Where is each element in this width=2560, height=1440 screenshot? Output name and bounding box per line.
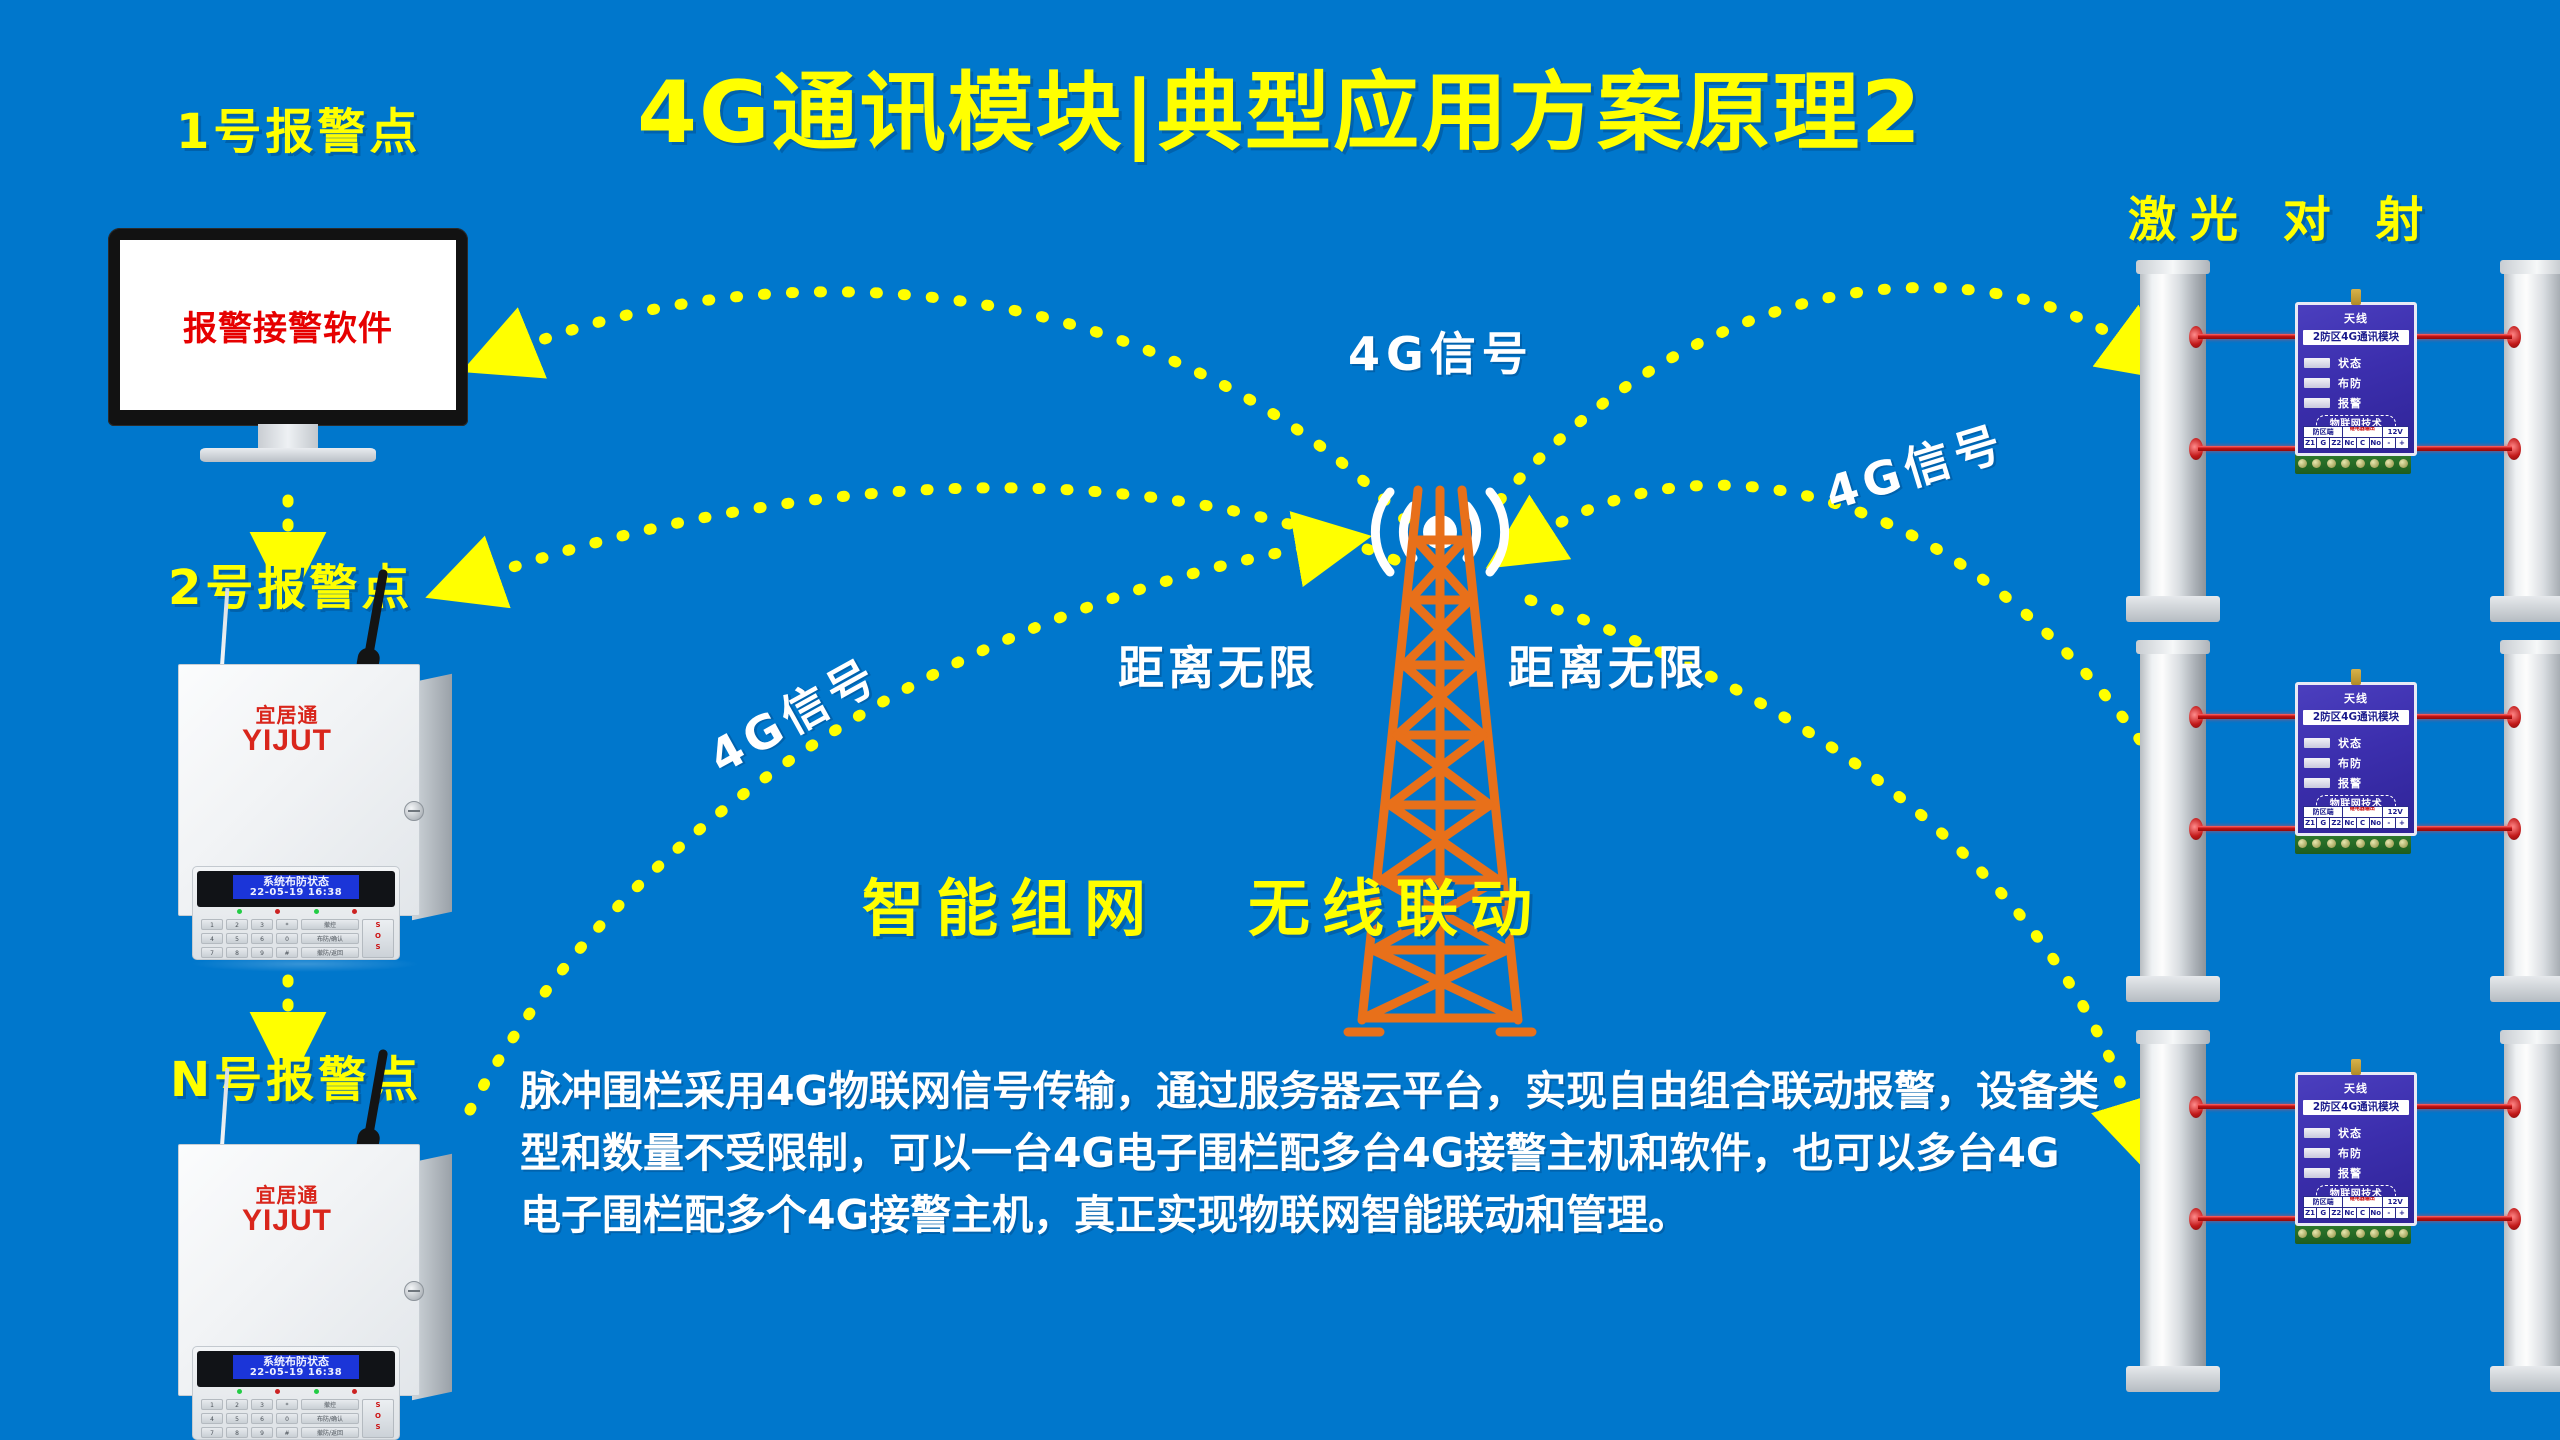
terminal-header-power: 12V (2383, 427, 2409, 437)
indicator-label: 报警 (2338, 1165, 2362, 1181)
key-2: 2 (226, 919, 248, 930)
pole-foot (2126, 1366, 2220, 1392)
terminal-pin: - (2383, 438, 2396, 448)
antenna-icon (2351, 1059, 2361, 1075)
laser-pole-left (2140, 650, 2206, 980)
module-indicator-status: 状态 (2304, 1123, 2414, 1143)
module-indicator-alarm: 报警 (2304, 773, 2414, 793)
arrow-tower-to-monitor (510, 292, 1405, 520)
module-title: 2防区4G通讯模块 (2303, 330, 2409, 345)
arrow-tower-to-host2 (475, 488, 1395, 580)
lcd-line-2: 22-05-19 16:38 (250, 1367, 342, 1378)
alarm-host-2: 宜居通 YIJUT 系统布防状态 22-05-19 16:38 123*撤控SO… (160, 660, 460, 960)
host-lcd: 系统布防状态 22-05-19 16:38 (233, 875, 359, 899)
module-title: 2防区4G通讯模块 (2303, 1100, 2409, 1115)
terminal-pin: G (2317, 438, 2330, 448)
led-strip (2304, 758, 2330, 768)
indicator-label: 状态 (2338, 355, 2362, 371)
led-power (237, 1389, 242, 1394)
label-distance-left: 距离无限 (1118, 632, 1318, 698)
module-antenna-label: 天线 (2298, 1080, 2414, 1096)
monitor-screen: 报警接警软件 (120, 240, 456, 410)
label-4g-signal-left: 4G信号 (696, 639, 890, 787)
terminal-pin: Nc (2343, 818, 2356, 828)
cell-tower-icon (1300, 480, 1580, 1040)
module-terminal-legend: 防区端 继电器输出 12V Z1 G Z2 Nc C No - + (2303, 806, 2409, 829)
pole-cap (2500, 640, 2560, 654)
module-indicator-status: 状态 (2304, 733, 2414, 753)
terminal-header-zone: 防区端 (2304, 1197, 2343, 1207)
label-wireless-linkage: 无线联动 (1248, 858, 1544, 948)
key-0: 0 (276, 933, 298, 944)
terminal-pin: C (2357, 1208, 2370, 1218)
indicator-label: 报警 (2338, 395, 2362, 411)
label-alarm-point-1: 1号报警点 (176, 92, 421, 162)
terminal-pin: Z1 (2304, 1208, 2317, 1218)
led-strip (2304, 1148, 2330, 1158)
key-4: 4 (201, 933, 223, 944)
host-lcd: 系统布防状态 22-05-19 16:38 (233, 1355, 359, 1379)
module-indicator-rows: 状态 布防 报警 (2304, 733, 2414, 793)
led-alarm (352, 909, 357, 914)
module-4g-communication: 天线 2防区4G通讯模块 状态 布防 报警 物联网技术 防区端 继电器输出 12… (2295, 1072, 2417, 1226)
module-indicator-alarm: 报警 (2304, 1163, 2414, 1183)
terminal-pin: + (2396, 818, 2408, 828)
terminal-pin: Z2 (2330, 818, 2343, 828)
pole-cap (2136, 640, 2210, 654)
module-4g-communication: 天线 2防区4G通讯模块 状态 布防 报警 物联网技术 防区端 继电器输出 12… (2295, 682, 2417, 836)
indicator-label: 状态 (2338, 735, 2362, 751)
terminal-pin: + (2396, 1208, 2408, 1218)
host-led-row (237, 1389, 357, 1396)
key-0: 0 (276, 1413, 298, 1424)
terminal-pin: G (2317, 818, 2330, 828)
monitor-screen-text: 报警接警软件 (183, 301, 393, 350)
led-power (237, 909, 242, 914)
laser-barrier-1: 天线 2防区4G通讯模块 状态 布防 报警 物联网技术 防区端 继电器输出 12… (2140, 270, 2560, 650)
terminal-header-relay: 继电器输出 (2343, 807, 2382, 817)
pole-cap (2500, 260, 2560, 274)
led-alarm (352, 1389, 357, 1394)
terminal-pin: Z2 (2330, 438, 2343, 448)
label-laser-barrier: 激光 对 射 (2128, 180, 2437, 250)
poster-canvas: 4G通讯模块|典型应用方案原理2 1号报警点 (0, 0, 2560, 1440)
terminal-pin: Z1 (2304, 818, 2317, 828)
module-antenna-label: 天线 (2298, 690, 2414, 706)
key-3: 3 (251, 1399, 273, 1410)
terminal-pin: G (2317, 1208, 2330, 1218)
led-strip (2304, 738, 2330, 748)
alarm-receiving-monitor: 报警接警软件 (108, 228, 468, 468)
laser-pole-right (2504, 1040, 2560, 1370)
arrow-tower-to-laser1 (1500, 288, 2135, 500)
module-4g-communication: 天线 2防区4G通讯模块 状态 布防 报警 物联网技术 防区端 继电器输出 12… (2295, 302, 2417, 456)
key-bypass: 撤控 (301, 1399, 359, 1410)
led-strip (2304, 1128, 2330, 1138)
host-shadow (190, 956, 420, 972)
terminal-pin: C (2357, 818, 2370, 828)
terminal-pin: Z2 (2330, 1208, 2343, 1218)
led-strip (2304, 358, 2330, 368)
terminal-pin: - (2383, 1208, 2396, 1218)
module-indicator-rows: 状态 布防 报警 (2304, 353, 2414, 413)
indicator-label: 报警 (2338, 775, 2362, 791)
pole-foot (2490, 596, 2560, 622)
module-indicator-status: 状态 (2304, 353, 2414, 373)
key-5: 5 (226, 933, 248, 944)
key-star: * (276, 919, 298, 930)
indicator-label: 状态 (2338, 1125, 2362, 1141)
laser-barrier-2: 天线 2防区4G通讯模块 状态 布防 报警 物联网技术 防区端 继电器输出 12… (2140, 650, 2560, 1030)
module-title: 2防区4G通讯模块 (2303, 710, 2409, 725)
led-comm (314, 909, 319, 914)
pole-cap (2136, 260, 2210, 274)
module-antenna-label: 天线 (2298, 310, 2414, 326)
key-3: 3 (251, 919, 273, 930)
alarm-host-n: 宜居通 YIJUT 系统布防状态 22-05-19 16:38 123*撤控SO… (160, 1140, 460, 1440)
laser-pole-right (2504, 650, 2560, 980)
antenna-icon (2351, 289, 2361, 305)
terminal-pin: No (2370, 438, 2383, 448)
pole-foot (2490, 1366, 2560, 1392)
led-arm (275, 1389, 280, 1394)
terminal-header-relay: 继电器输出 (2343, 1197, 2382, 1207)
host-keypad[interactable]: 系统布防状态 22-05-19 16:38 123*撤控SOS 4560布防/确… (192, 1346, 400, 1440)
led-strip (2304, 778, 2330, 788)
lcd-line-2: 22-05-19 16:38 (250, 887, 342, 898)
led-strip (2304, 378, 2330, 388)
label-distance-right: 距离无限 (1508, 632, 1708, 698)
lock-icon (404, 1281, 424, 1301)
module-terminal-legend: 防区端 继电器输出 12V Z1 G Z2 Nc C No - + (2303, 426, 2409, 449)
host-keypad[interactable]: 系统布防状态 22-05-19 16:38 123*撤控SOS 4560布防/确… (192, 866, 400, 960)
label-4g-signal-top: 4G信号 (1348, 318, 1534, 384)
module-indicator-arm: 布防 (2304, 373, 2414, 393)
led-arm (275, 909, 280, 914)
module-terminal-legend: 防区端 继电器输出 12V Z1 G Z2 Nc C No - + (2303, 1196, 2409, 1219)
key-star: * (276, 1399, 298, 1410)
monitor-bezel: 报警接警软件 (108, 228, 468, 426)
key-sos: SOS (362, 919, 394, 958)
monitor-neck (258, 424, 318, 450)
label-4g-signal-right: 4G信号 (1816, 406, 2013, 523)
key-6: 6 (251, 1413, 273, 1424)
brand-name-en: YIJUT (227, 1204, 347, 1238)
terminal-header-zone: 防区端 (2304, 427, 2343, 437)
host-lcd-bar: 系统布防状态 22-05-19 16:38 (197, 871, 395, 907)
led-comm (314, 1389, 319, 1394)
laser-pole-right (2504, 270, 2560, 600)
key-2: 2 (226, 1399, 248, 1410)
terminal-pin: Nc (2343, 1208, 2356, 1218)
key-1: 1 (201, 919, 223, 930)
brand-name-en: YIJUT (227, 724, 347, 758)
key-arm: 布防/确认 (301, 933, 359, 944)
indicator-label: 布防 (2338, 1145, 2362, 1161)
host-led-row (237, 909, 357, 916)
key-arm: 布防/确认 (301, 1413, 359, 1424)
terminal-header-power: 12V (2383, 807, 2409, 817)
antenna-icon (2351, 669, 2361, 685)
terminal-pin: C (2357, 438, 2370, 448)
lcd-line-1: 系统布防状态 (263, 1356, 329, 1367)
terminal-pin: No (2370, 818, 2383, 828)
pole-cap (2500, 1030, 2560, 1044)
module-indicator-arm: 布防 (2304, 1143, 2414, 1163)
laser-pole-left (2140, 1040, 2206, 1370)
key-bypass: 撤控 (301, 919, 359, 930)
host-lcd-bar: 系统布防状态 22-05-19 16:38 (197, 1351, 395, 1387)
lock-icon (404, 801, 424, 821)
key-5: 5 (226, 1413, 248, 1424)
led-strip (2304, 1168, 2330, 1178)
terminal-pin: Z1 (2304, 438, 2317, 448)
module-indicator-rows: 状态 布防 报警 (2304, 1123, 2414, 1183)
arrow-hostN-to-tower (470, 545, 1320, 1110)
brand-logo: 宜居通 YIJUT (227, 1179, 347, 1238)
led-strip (2304, 398, 2330, 408)
terminal-pin: + (2396, 438, 2408, 448)
pole-cap (2136, 1030, 2210, 1044)
terminal-header-zone: 防区端 (2304, 807, 2343, 817)
indicator-label: 布防 (2338, 375, 2362, 391)
host-shadow (190, 1436, 420, 1440)
terminal-pin: - (2383, 818, 2396, 828)
terminal-header-relay: 继电器输出 (2343, 427, 2382, 437)
key-6: 6 (251, 933, 273, 944)
description-paragraph: 脉冲围栏采用4G物联网信号传输，通过服务器云平台，实现自由组合联动报警，设备类型… (520, 1060, 2100, 1246)
brand-logo: 宜居通 YIJUT (227, 699, 347, 758)
module-indicator-arm: 布防 (2304, 753, 2414, 773)
terminal-pin: No (2370, 1208, 2383, 1218)
pole-foot (2126, 596, 2220, 622)
key-1: 1 (201, 1399, 223, 1410)
lcd-line-1: 系统布防状态 (263, 876, 329, 887)
laser-barrier-3: 天线 2防区4G通讯模块 状态 布防 报警 物联网技术 防区端 继电器输出 12… (2140, 1040, 2560, 1420)
host-key-grid[interactable]: 123*撤控SOS 4560布防/确认 789#撤防/返回 (201, 1399, 391, 1438)
key-4: 4 (201, 1413, 223, 1424)
module-indicator-alarm: 报警 (2304, 393, 2414, 413)
pole-foot (2490, 976, 2560, 1002)
key-sos: SOS (362, 1399, 394, 1438)
terminal-pin: Nc (2343, 438, 2356, 448)
indicator-label: 布防 (2338, 755, 2362, 771)
terminal-header-power: 12V (2383, 1197, 2409, 1207)
pole-foot (2126, 976, 2220, 1002)
host-key-grid[interactable]: 123*撤控SOS 4560布防/确认 789#撤防/返回 (201, 919, 391, 958)
laser-pole-left (2140, 270, 2206, 600)
label-smart-networking: 智能组网 (862, 858, 1158, 948)
monitor-base (200, 448, 376, 462)
